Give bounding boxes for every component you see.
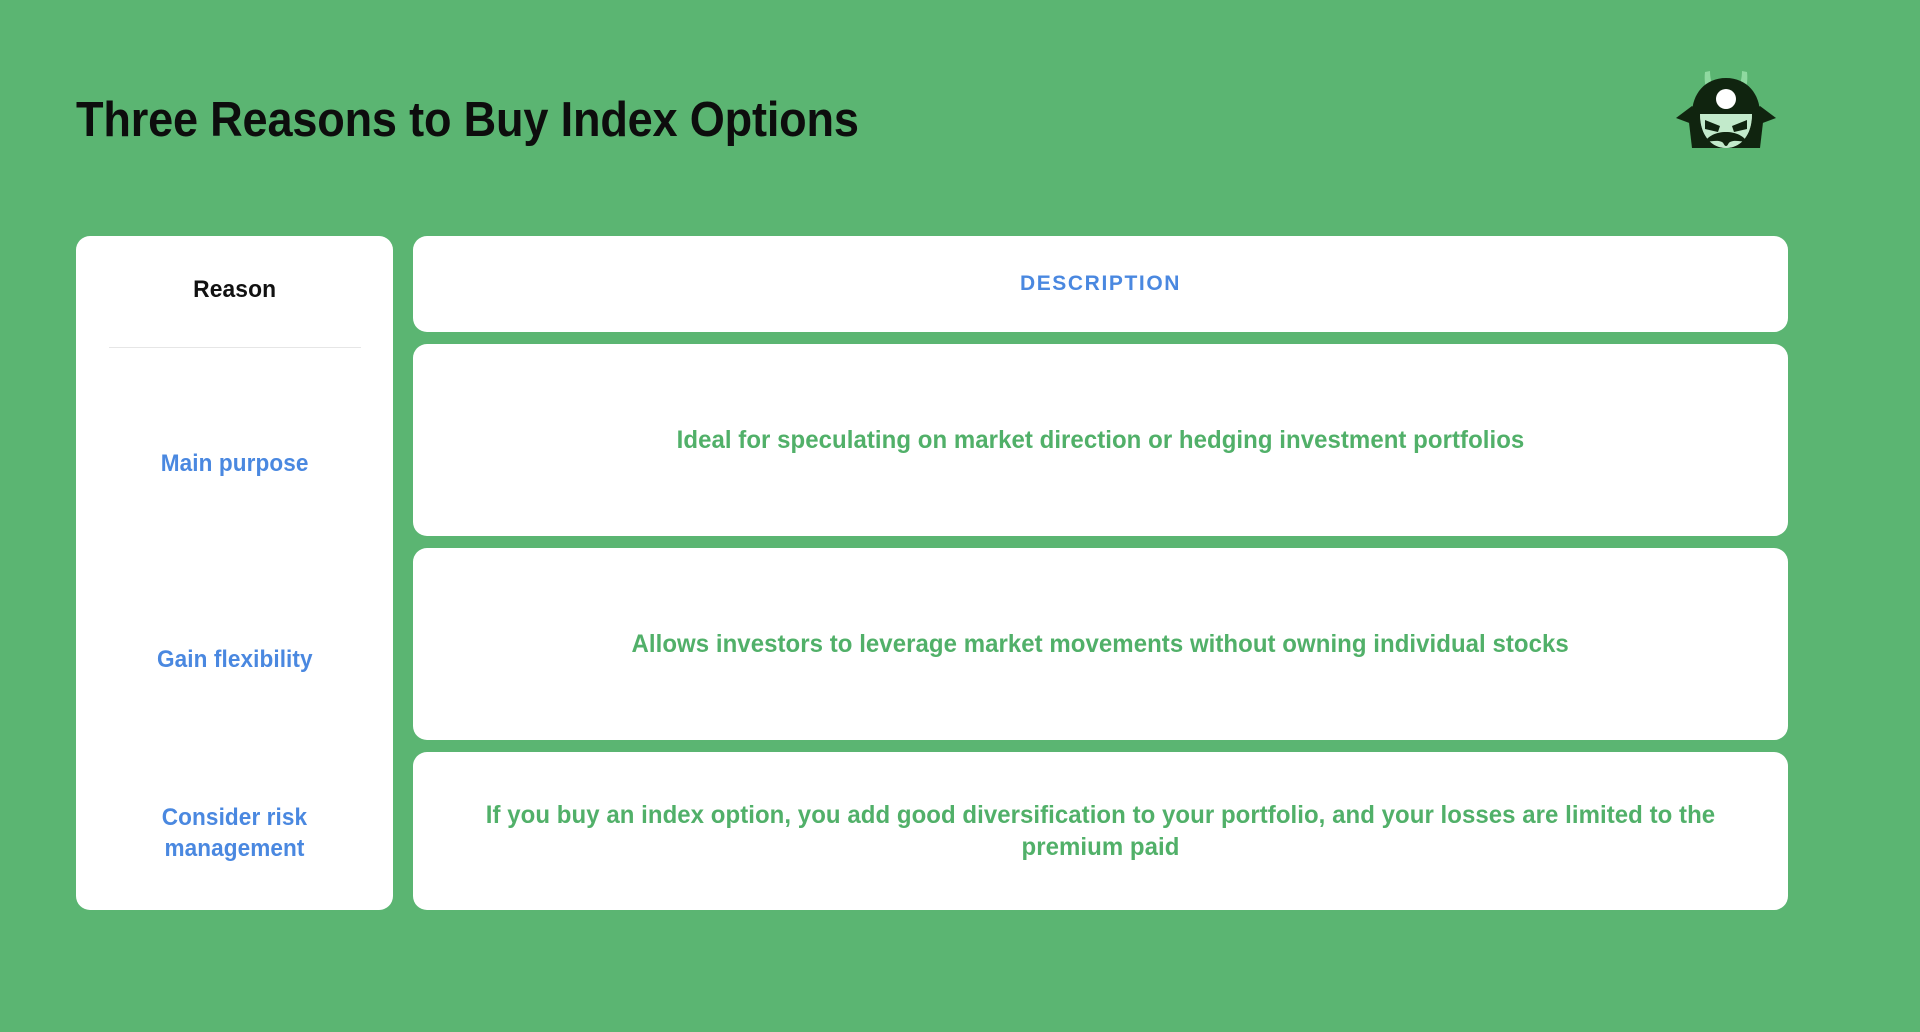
reason-label-1: Gain flexibility bbox=[157, 645, 313, 676]
reason-column-header-label: Reason bbox=[193, 276, 276, 304]
reason-header-divider bbox=[109, 347, 361, 348]
reasons-table: Reason Main purpose Gain flexibility Con… bbox=[76, 236, 1788, 910]
reason-label-2: Consider risk management bbox=[110, 803, 359, 864]
description-card-0: Ideal for speculating on market directio… bbox=[413, 344, 1788, 536]
description-column-header: DESCRIPTION bbox=[413, 236, 1788, 332]
slide-canvas: Three Reasons to Buy Index Options bbox=[0, 0, 1920, 1032]
slide-header: Three Reasons to Buy Index Options bbox=[0, 0, 1920, 200]
reason-column-header: Reason bbox=[76, 236, 393, 344]
page-title: Three Reasons to Buy Index Options bbox=[76, 92, 859, 148]
reason-cell-2: Consider risk management bbox=[76, 758, 393, 910]
description-text-0: Ideal for speculating on market directio… bbox=[677, 424, 1525, 457]
reason-cell-1: Gain flexibility bbox=[76, 562, 393, 758]
description-column-header-label: DESCRIPTION bbox=[1020, 272, 1181, 296]
description-text-1: Allows investors to leverage market move… bbox=[632, 628, 1569, 661]
description-card-2: If you buy an index option, you add good… bbox=[413, 752, 1788, 910]
reason-label-0: Main purpose bbox=[161, 449, 309, 480]
samurai-helmet-logo bbox=[1672, 62, 1780, 154]
reason-column: Reason Main purpose Gain flexibility Con… bbox=[76, 236, 393, 910]
reason-cell-0: Main purpose bbox=[76, 366, 393, 562]
description-text-2: If you buy an index option, you add good… bbox=[485, 799, 1717, 864]
description-card-1: Allows investors to leverage market move… bbox=[413, 548, 1788, 740]
